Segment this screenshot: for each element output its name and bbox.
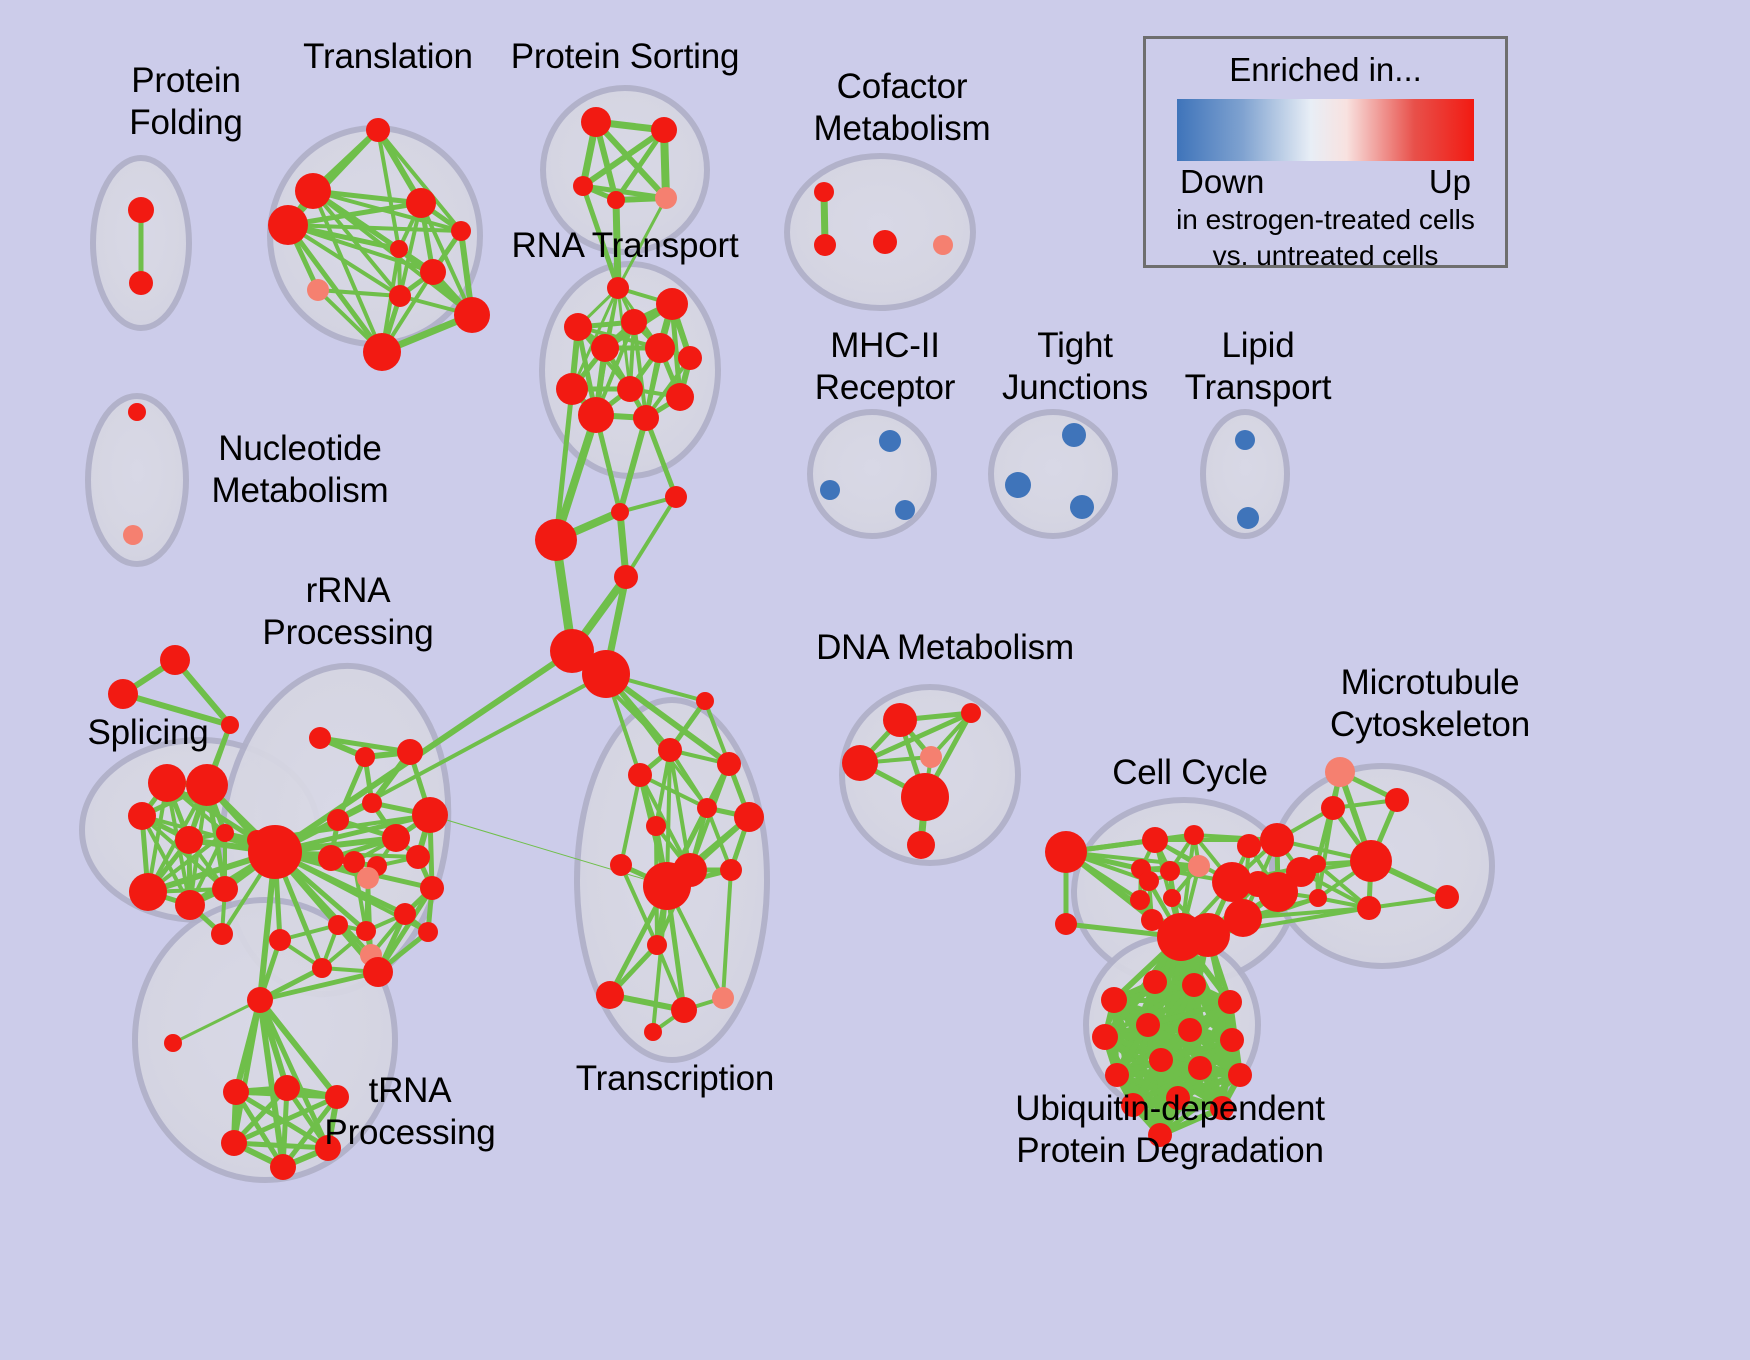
node-dm1[interactable] (883, 703, 917, 737)
node-tc14[interactable] (671, 997, 697, 1023)
cluster-label-tight-junctions: Tight Junctions (985, 325, 1165, 409)
node-mt7[interactable] (1357, 896, 1381, 920)
cluster-tight_junctions (991, 412, 1115, 536)
node-mt2[interactable] (1385, 788, 1409, 812)
node-rr23[interactable] (247, 987, 273, 1013)
cluster-label-protein-sorting: Protein Sorting (500, 36, 750, 78)
node-lt2[interactable] (1237, 507, 1259, 529)
node-sp5[interactable] (186, 764, 228, 806)
node-rr22[interactable] (363, 957, 393, 987)
node-tr1[interactable] (366, 118, 390, 142)
cluster-label-rna-transport: RNA Transport (500, 225, 750, 267)
node-tc2[interactable] (658, 738, 682, 762)
node-dm6[interactable] (907, 831, 935, 859)
node-mt5[interactable] (1308, 855, 1326, 873)
cluster-label-transcription: Transcription (565, 1058, 785, 1100)
cluster-label-mhc-ii-receptor: MHC-II Receptor (795, 325, 975, 409)
node-rt3[interactable] (564, 313, 592, 341)
node-cc5[interactable] (1260, 823, 1294, 857)
node-tr9[interactable] (389, 285, 411, 307)
node-rr18[interactable] (328, 915, 348, 935)
node-pf2[interactable] (129, 271, 153, 295)
node-sp6[interactable] (128, 802, 156, 830)
node-ps3[interactable] (573, 176, 593, 196)
node-tr3[interactable] (406, 188, 436, 218)
node-tc11[interactable] (720, 859, 742, 881)
node-tc7[interactable] (734, 802, 764, 832)
node-cc3[interactable] (1184, 825, 1204, 845)
node-tr11[interactable] (363, 333, 401, 371)
node-lk2[interactable] (665, 486, 687, 508)
node-dm5[interactable] (901, 773, 949, 821)
cluster-label-ubiquitin-protein-degradation: Ubiquitin-dependent Protein Degradation (980, 1088, 1360, 1172)
node-rr9[interactable] (406, 845, 430, 869)
node-tj1[interactable] (1062, 423, 1086, 447)
node-sp12[interactable] (211, 923, 233, 945)
node-tn1[interactable] (164, 1034, 182, 1052)
node-tn2[interactable] (274, 1075, 300, 1101)
node-mh2[interactable] (820, 480, 840, 500)
node-cc13[interactable] (1258, 872, 1298, 912)
node-cc2[interactable] (1142, 827, 1168, 853)
node-mt8[interactable] (1435, 885, 1459, 909)
node-dm3[interactable] (842, 745, 878, 781)
node-mh1[interactable] (879, 430, 901, 452)
cluster-label-rrna-processing: rRNA Processing (248, 570, 448, 654)
node-tn3[interactable] (223, 1079, 249, 1105)
node-ps2[interactable] (651, 117, 677, 143)
node-rt11[interactable] (578, 397, 614, 433)
node-ub4[interactable] (1218, 990, 1242, 1014)
node-tc3[interactable] (717, 752, 741, 776)
node-ps1[interactable] (581, 107, 611, 137)
node-cc4[interactable] (1237, 834, 1261, 858)
cluster-label-translation: Translation (288, 36, 488, 78)
node-sp1[interactable] (160, 645, 190, 675)
node-rt2[interactable] (656, 288, 688, 320)
node-ub5[interactable] (1092, 1024, 1118, 1050)
node-tj2[interactable] (1005, 472, 1031, 498)
node-tc13[interactable] (596, 981, 624, 1009)
node-cc11[interactable] (1139, 871, 1159, 891)
node-cc16[interactable] (1224, 899, 1262, 937)
cluster-label-nucleotide-metabolism: Nucleotide Metabolism (190, 428, 410, 512)
node-ub11[interactable] (1188, 1056, 1212, 1080)
node-sp2[interactable] (108, 679, 138, 709)
node-rr20[interactable] (269, 929, 291, 951)
node-rr3[interactable] (397, 739, 423, 765)
node-tj3[interactable] (1070, 495, 1094, 519)
node-sp9[interactable] (129, 873, 167, 911)
cluster-label-protein-folding: Protein Folding (86, 60, 286, 144)
node-cm1[interactable] (814, 182, 834, 202)
node-rt9[interactable] (617, 376, 643, 402)
legend-colorbar (1177, 99, 1474, 161)
node-ub12[interactable] (1228, 1063, 1252, 1087)
node-tr6[interactable] (390, 240, 408, 258)
node-tr5[interactable] (451, 221, 471, 241)
node-cc7[interactable] (1160, 861, 1180, 881)
node-mh3[interactable] (895, 500, 915, 520)
node-ps5[interactable] (655, 187, 677, 209)
node-rt12[interactable] (633, 405, 659, 431)
node-cc17[interactable] (1055, 913, 1077, 935)
cluster-label-microtubule-cytoskeleton: Microtubule Cytoskeleton (1300, 662, 1560, 746)
node-cm3[interactable] (873, 230, 897, 254)
node-cm2[interactable] (814, 234, 836, 256)
node-cm4[interactable] (933, 235, 953, 255)
cluster-label-lipid-transport: Lipid Transport (1168, 325, 1348, 409)
node-rt8[interactable] (556, 373, 588, 405)
node-rr16[interactable] (356, 921, 376, 941)
cluster-mhc_ii (810, 412, 934, 536)
node-rr7[interactable] (382, 824, 410, 852)
node-rr14[interactable] (357, 867, 379, 889)
node-tc1[interactable] (696, 692, 714, 710)
node-tc10[interactable] (643, 862, 691, 910)
node-tr8[interactable] (307, 279, 329, 301)
node-sp10[interactable] (175, 890, 205, 920)
cluster-label-cell-cycle: Cell Cycle (1090, 752, 1290, 794)
node-rr21[interactable] (312, 958, 332, 978)
node-rr12[interactable] (248, 825, 302, 879)
node-cc1[interactable] (1045, 831, 1087, 873)
node-ub9[interactable] (1105, 1063, 1129, 1087)
node-rt6[interactable] (645, 333, 675, 363)
node-tr2[interactable] (295, 173, 331, 209)
node-tr10[interactable] (454, 297, 490, 333)
node-tn7[interactable] (270, 1154, 296, 1180)
node-cc14[interactable] (1130, 890, 1150, 910)
node-tc15[interactable] (712, 987, 734, 1009)
legend-high-label: Up (1429, 163, 1471, 201)
node-tc4[interactable] (628, 763, 652, 787)
node-dm4[interactable] (920, 746, 942, 768)
node-rt4[interactable] (621, 309, 647, 335)
node-rr5[interactable] (327, 809, 349, 831)
node-mt4[interactable] (1350, 840, 1392, 882)
node-lk1[interactable] (611, 503, 629, 521)
node-rt10[interactable] (666, 383, 694, 411)
node-sp11[interactable] (212, 876, 238, 902)
node-tn5[interactable] (221, 1130, 247, 1156)
node-rr1[interactable] (309, 727, 331, 749)
cluster-label-dna-metabolism: DNA Metabolism (810, 627, 1080, 669)
node-mt1[interactable] (1325, 757, 1355, 787)
node-tc5[interactable] (697, 798, 717, 818)
node-cc12[interactable] (1212, 862, 1252, 902)
node-lk3[interactable] (535, 519, 577, 561)
node-rt5[interactable] (591, 334, 619, 362)
node-dm2[interactable] (961, 703, 981, 723)
legend-box: Enriched in... Down Up in estrogen-treat… (1143, 36, 1508, 268)
node-rr17[interactable] (418, 922, 438, 942)
node-ub2[interactable] (1143, 970, 1167, 994)
node-cc20[interactable] (1186, 913, 1230, 957)
node-rr2[interactable] (355, 747, 375, 767)
node-rr4[interactable] (362, 793, 382, 813)
node-rr13[interactable] (420, 876, 444, 900)
node-ub7[interactable] (1178, 1018, 1202, 1042)
node-rr15[interactable] (394, 903, 416, 925)
node-ub6[interactable] (1136, 1013, 1160, 1037)
node-lk6[interactable] (582, 650, 630, 698)
legend-description-line1: in estrogen-treated cells (1146, 203, 1505, 237)
node-tr7[interactable] (420, 259, 446, 285)
legend-description-line2: vs. untreated cells (1146, 239, 1505, 273)
cluster-label-trna-processing: tRNA Processing (300, 1070, 520, 1154)
node-cc15[interactable] (1163, 889, 1181, 907)
node-rt7[interactable] (678, 346, 702, 370)
node-sp8[interactable] (216, 824, 234, 842)
node-ps4[interactable] (607, 191, 625, 209)
node-tr4[interactable] (268, 205, 308, 245)
node-mt6[interactable] (1309, 889, 1327, 907)
node-nm1[interactable] (128, 403, 146, 421)
node-lt1[interactable] (1235, 430, 1255, 450)
node-ub1[interactable] (1101, 987, 1127, 1013)
node-nm2[interactable] (123, 525, 143, 545)
cluster-label-splicing: Splicing (58, 712, 238, 754)
node-ub10[interactable] (1149, 1048, 1173, 1072)
node-tc6[interactable] (646, 816, 666, 836)
node-tc12[interactable] (647, 935, 667, 955)
node-ub8[interactable] (1220, 1028, 1244, 1052)
node-rr8[interactable] (318, 845, 344, 871)
node-cc10[interactable] (1188, 855, 1210, 877)
legend-title: Enriched in... (1146, 51, 1505, 89)
network-figure: Protein FoldingTranslationProtein Sortin… (0, 0, 1750, 1360)
node-tc16[interactable] (644, 1023, 662, 1041)
node-rr6[interactable] (412, 797, 448, 833)
node-ub3[interactable] (1182, 973, 1206, 997)
node-pf1[interactable] (128, 197, 154, 223)
node-rt1[interactable] (607, 277, 629, 299)
cluster-label-cofactor-metabolism: Cofactor Metabolism (792, 66, 1012, 150)
node-sp4[interactable] (148, 764, 186, 802)
legend-low-label: Down (1180, 163, 1264, 201)
node-tc9[interactable] (610, 854, 632, 876)
node-mt3[interactable] (1321, 796, 1345, 820)
node-sp7[interactable] (175, 826, 203, 854)
node-lk4[interactable] (614, 565, 638, 589)
